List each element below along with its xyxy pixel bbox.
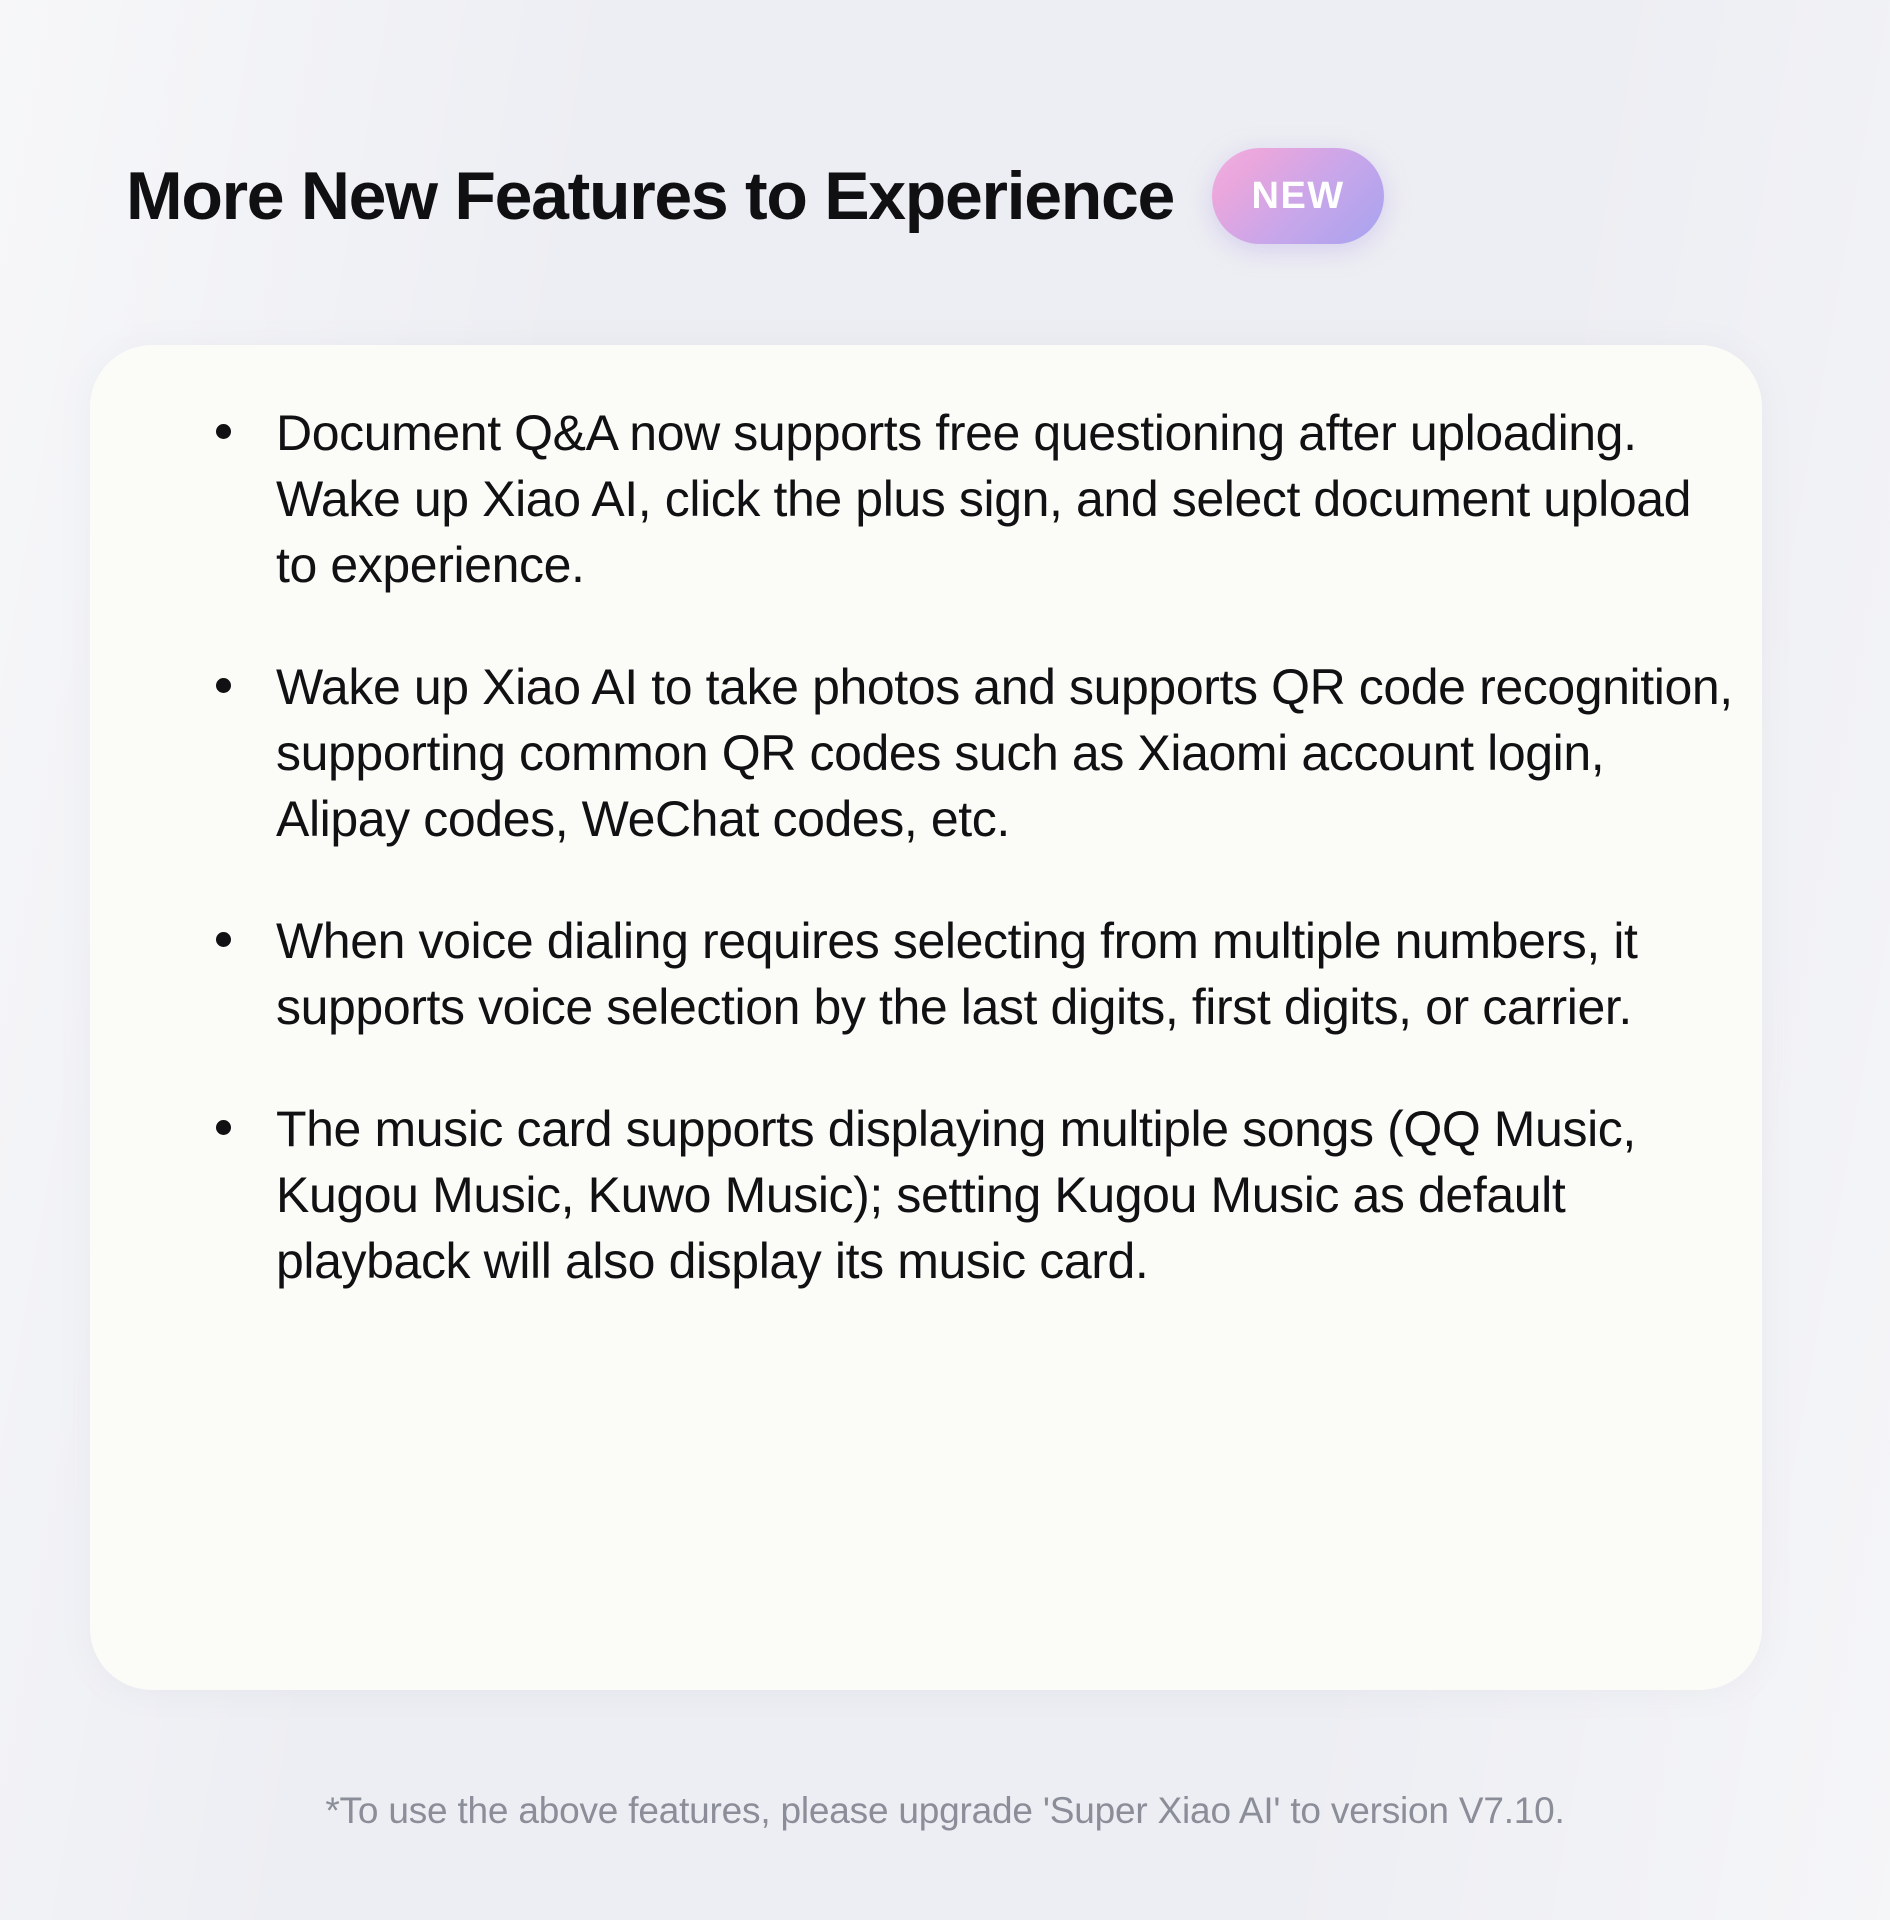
list-item: Document Q&A now supports free questioni… <box>208 400 1738 598</box>
list-item-text: When voice dialing requires selecting fr… <box>276 913 1638 1035</box>
page-title: More New Features to Experience <box>126 162 1174 230</box>
bullet-dot-icon <box>216 1120 231 1135</box>
list-item-text: Wake up Xiao AI to take photos and suppo… <box>276 659 1733 847</box>
bullet-dot-icon <box>216 424 231 439</box>
list-item: Wake up Xiao AI to take photos and suppo… <box>208 654 1738 852</box>
status-badge-new: NEW <box>1212 148 1384 244</box>
list-item: When voice dialing requires selecting fr… <box>208 908 1738 1040</box>
bullet-dot-icon <box>216 932 231 947</box>
bullet-dot-icon <box>216 678 231 693</box>
page-header: More New Features to Experience NEW <box>126 148 1384 244</box>
feature-list-card: Document Q&A now supports free questioni… <box>90 345 1762 1690</box>
list-item-text: The music card supports displaying multi… <box>276 1101 1636 1289</box>
list-item: The music card supports displaying multi… <box>208 1096 1738 1294</box>
feature-list: Document Q&A now supports free questioni… <box>208 400 1738 1294</box>
new-badge-label: NEW <box>1252 175 1345 218</box>
upgrade-footnote: *To use the above features, please upgra… <box>0 1790 1890 1832</box>
list-item-text: Document Q&A now supports free questioni… <box>276 405 1691 593</box>
